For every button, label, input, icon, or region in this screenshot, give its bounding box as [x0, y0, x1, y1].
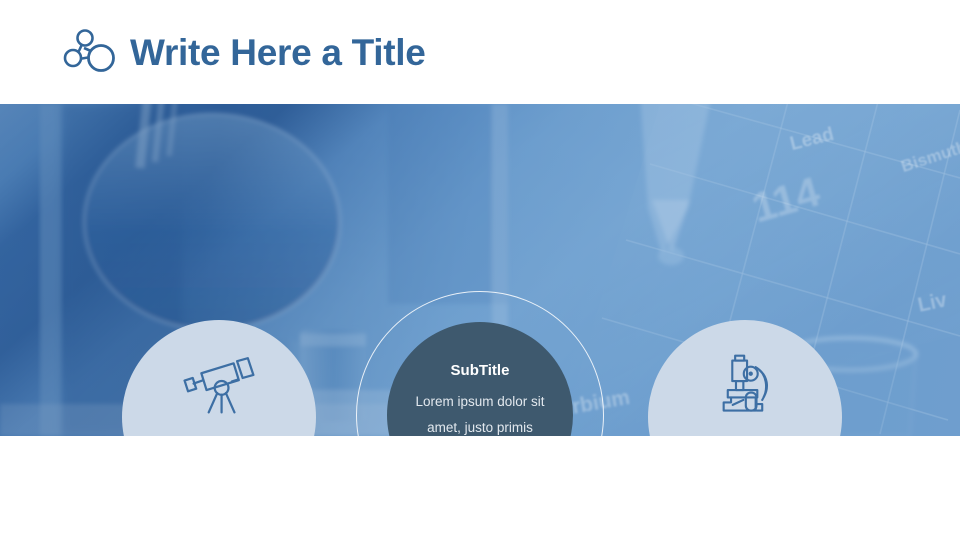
- body-line-2: amet, justo primis: [427, 420, 533, 435]
- feature-circles: Lorem ipsum dolor sit amet. SubTitle Lor…: [0, 104, 960, 436]
- slide-footer-space: [0, 436, 960, 540]
- slide: Write Here a Title: [0, 0, 960, 540]
- telescope-icon: [182, 353, 256, 415]
- slide-header: Write Here a Title: [0, 0, 960, 104]
- hero-banner: Lead Bismuth 114 Liv Erbium: [0, 104, 960, 436]
- microscope-icon: [713, 352, 777, 420]
- feature-card-left[interactable]: Lorem ipsum dolor sit amet.: [122, 320, 316, 436]
- feature-card-right[interactable]: Lorem ipsum dolor sit amet.: [648, 320, 842, 436]
- body-line-1: Lorem ipsum dolor sit: [415, 394, 544, 409]
- subtitle-heading: SubTitle: [451, 362, 510, 379]
- page-title: Write Here a Title: [130, 34, 426, 71]
- subtitle-body: Lorem ipsum dolor sit amet, justo primis…: [400, 389, 560, 436]
- molecule-icon: [62, 26, 118, 78]
